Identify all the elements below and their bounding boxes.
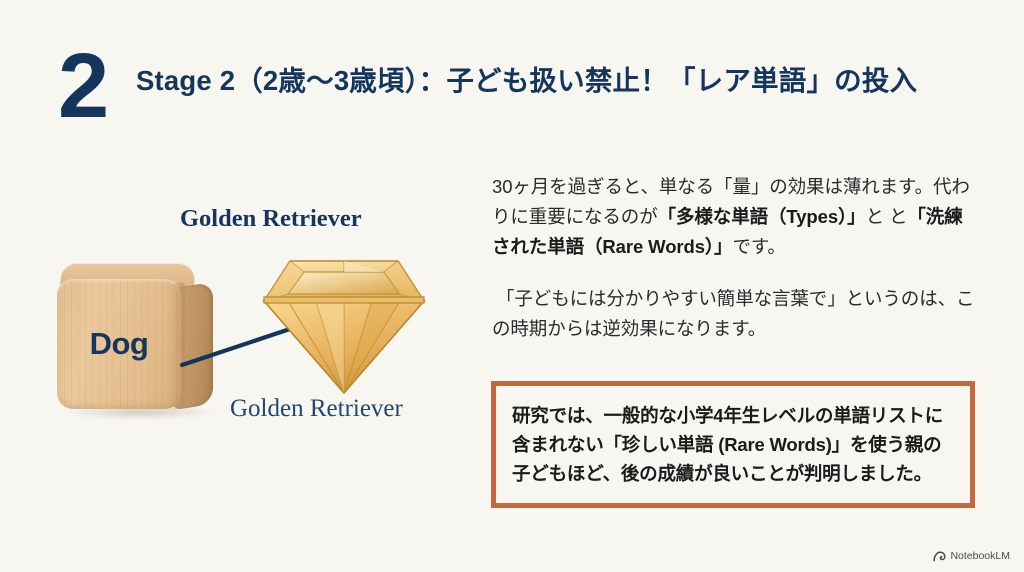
paragraph-1-text-2: と と [866, 206, 908, 227]
gem-label-top: Golden Retriever [180, 205, 362, 233]
gem-label-bottom: Golden Retriever [230, 395, 403, 423]
page-title: Stage 2（2歳〜3歳頃）：子ども扱い禁止！「レア単語」の投入 [136, 44, 917, 100]
callout-text: 研究では、一般的な小学4年生レベルの単語リストに含まれない「珍しい単語 (Rar… [496, 386, 970, 489]
step-number: 2 [58, 44, 136, 129]
watermark-label: NotebookLM [950, 550, 1010, 562]
notebooklm-logo-icon [933, 551, 946, 562]
notebooklm-watermark: NotebookLM [933, 550, 1010, 562]
slide-canvas: 2 Stage 2（2歳〜3歳頃）：子ども扱い禁止！「レア単語」の投入 Gold… [0, 0, 1024, 572]
gem-icon [260, 247, 428, 395]
body-text-column: 30ヶ月を過ぎると、単なる「量」の効果は薄れます。代わりに重要になるのが「多様な… [492, 172, 978, 344]
paragraph-2: 「子どもには分かりやすい簡単な言葉で」というのは、この時期からは逆効果になります… [492, 284, 978, 344]
paragraph-1: 30ヶ月を過ぎると、単なる「量」の効果は薄れます。代わりに重要になるのが「多様な… [492, 172, 978, 262]
paragraph-1-bold-1: 「多様な単語（Types）」 [658, 206, 866, 227]
concept-illustration: Golden Retriever Dog [55, 195, 485, 455]
block-word-label: Dog [57, 279, 181, 409]
slide-header: 2 Stage 2（2歳〜3歳頃）：子ども扱い禁止！「レア単語」の投入 [58, 44, 974, 129]
paragraph-1-text-3: です。 [732, 236, 785, 257]
highlight-callout-box: 研究では、一般的な小学4年生レベルの単語リストに含まれない「珍しい単語 (Rar… [491, 381, 975, 508]
